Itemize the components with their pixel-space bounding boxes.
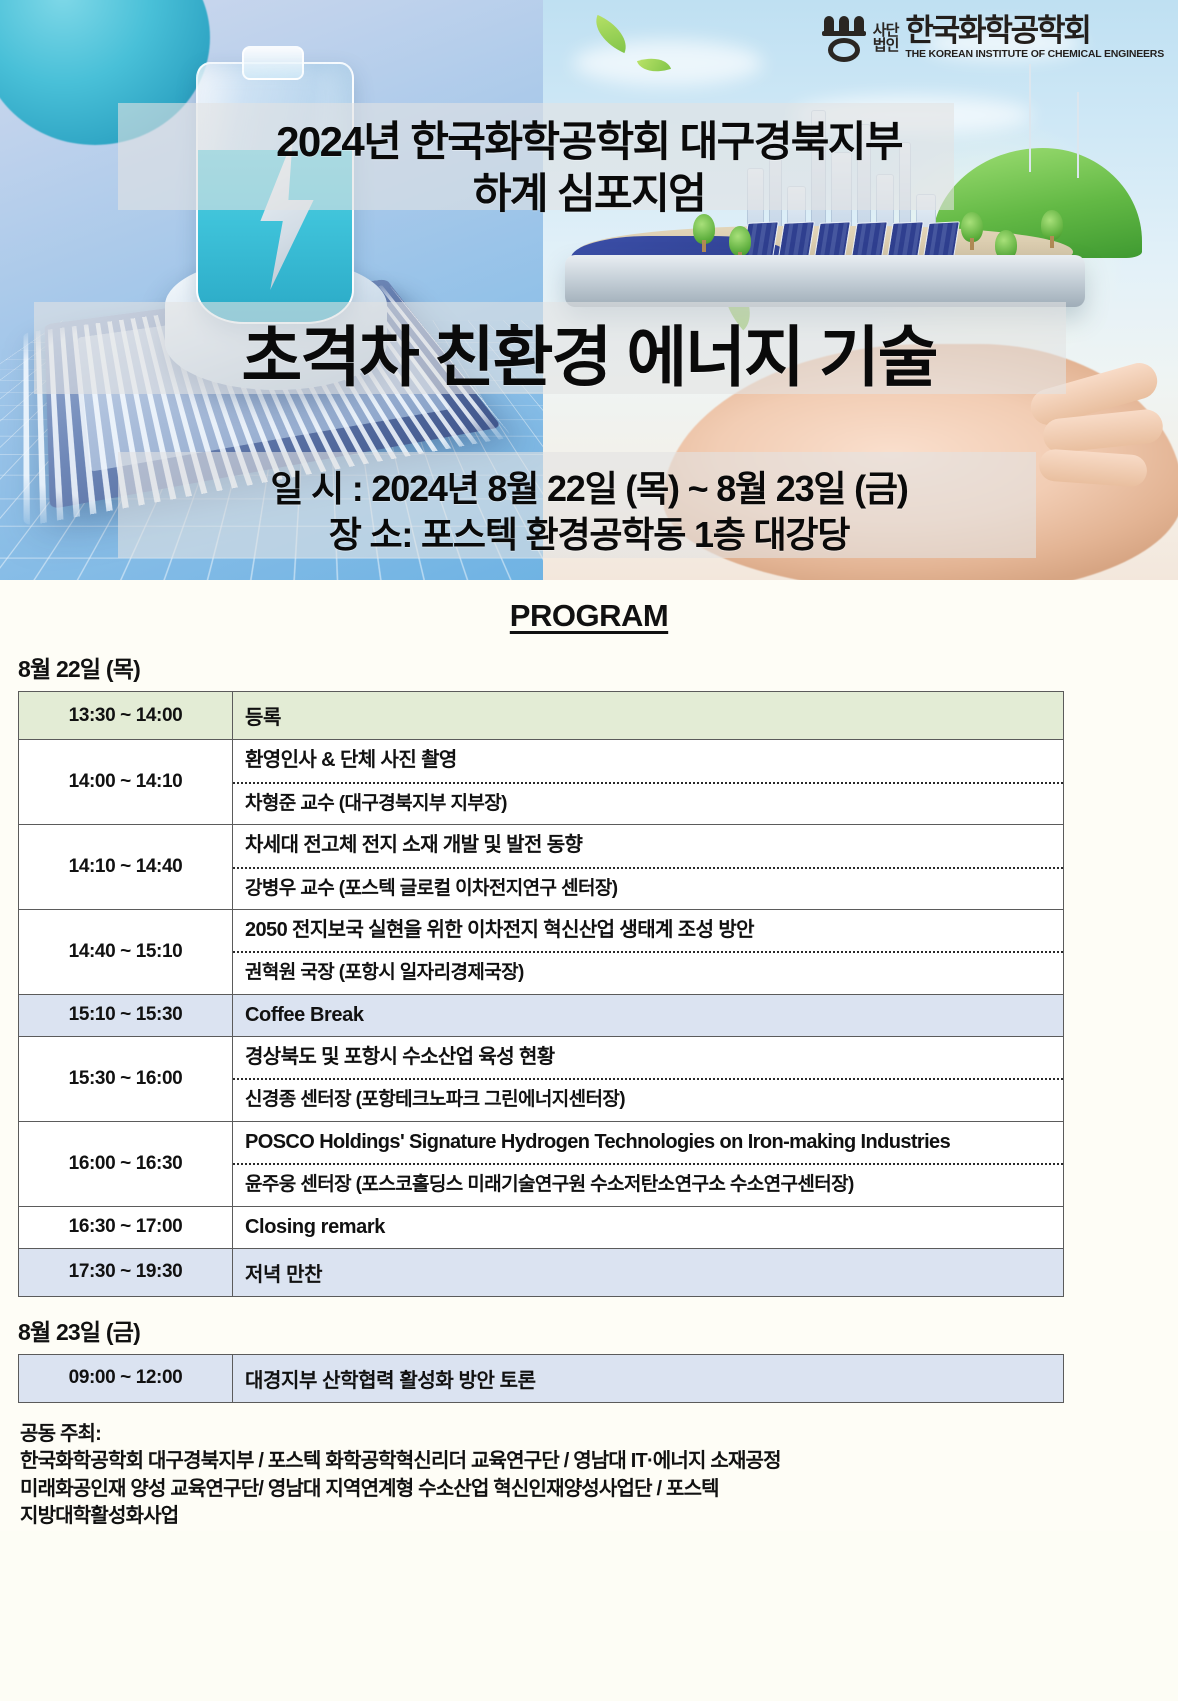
schedule-content-cell: 등록	[233, 692, 1064, 740]
schedule-time-cell: 15:30 ~ 16:00	[19, 1036, 233, 1121]
logo-corporate-type-line1: 사단	[873, 23, 899, 38]
schedule-time-cell: 16:00 ~ 16:30	[19, 1121, 233, 1206]
organizers-line1: 한국화학공학회 대구경북지부 / 포스텍 화학공학혁신리더 교육연구단 / 영남…	[20, 1448, 1164, 1476]
schedule-content-cell: 저녁 만찬	[233, 1248, 1064, 1296]
day1-label: 8월 22일 (목)	[18, 650, 1164, 684]
schedule-row: 16:30 ~ 17:00Closing remark	[19, 1206, 1064, 1248]
schedule-row: 17:30 ~ 19:30저녁 만찬	[19, 1248, 1064, 1296]
kiche-logo: 사단 법인 한국화학공학회 THE KOREAN INSTITUTE OF CH…	[822, 14, 1164, 62]
schedule-topic: 저녁 만찬	[233, 1249, 1063, 1296]
poster-datetime: 일 시 : 2024년 8월 22일 (목) ~ 8월 23일 (금)	[0, 460, 1178, 512]
schedule-row: 13:30 ~ 14:00등록	[19, 692, 1064, 740]
day2-label: 8월 23일 (금)	[18, 1313, 1164, 1347]
poster-venue: 장 소: 포스텍 환경공학동 1층 대강당	[0, 506, 1178, 558]
schedule-row: 14:00 ~ 14:10환영인사 & 단체 사진 촬영차형준 교수 (대구경북…	[19, 740, 1064, 825]
schedule-row: 15:30 ~ 16:00경상북도 및 포항시 수소산업 육성 현황신경종 센터…	[19, 1036, 1064, 1121]
schedule-row: 14:40 ~ 15:102050 전지보국 실현을 위한 이차전지 혁신산업 …	[19, 909, 1064, 994]
program-heading: PROGRAM	[14, 598, 1164, 634]
schedule-speaker: 강병우 교수 (포스텍 글로컬 이차전지연구 센터장)	[233, 867, 1063, 909]
schedule-content-cell: 차세대 전고체 전지 소재 개발 및 발전 동향강병우 교수 (포스텍 글로컬 …	[233, 824, 1064, 909]
logo-wordmark-en: THE KOREAN INSTITUTE OF CHEMICAL ENGINEE…	[905, 48, 1164, 60]
schedule-time-cell: 14:40 ~ 15:10	[19, 909, 233, 994]
schedule-content-cell: 경상북도 및 포항시 수소산업 육성 현황신경종 센터장 (포항테크노파크 그린…	[233, 1036, 1064, 1121]
day2-block: 8월 23일 (금) 09:00 ~ 12:00대경지부 산학협력 활성화 방안…	[14, 1313, 1164, 1403]
organizers-line2: 미래화공인재 양성 교육연구단/ 영남대 지역연계형 수소산업 혁신인재양성사업…	[20, 1476, 1164, 1504]
schedule-time-cell: 14:00 ~ 14:10	[19, 740, 233, 825]
schedule-topic: 등록	[233, 692, 1063, 739]
hero-banner: 사단 법인 한국화학공학회 THE KOREAN INSTITUTE OF CH…	[0, 0, 1178, 580]
schedule-topic: POSCO Holdings' Signature Hydrogen Techn…	[233, 1122, 1063, 1164]
schedule-content-cell: POSCO Holdings' Signature Hydrogen Techn…	[233, 1121, 1064, 1206]
schedule-time-cell: 09:00 ~ 12:00	[19, 1354, 233, 1402]
day2-schedule-table: 09:00 ~ 12:00대경지부 산학협력 활성화 방안 토론	[18, 1354, 1064, 1403]
logo-wordmark: 한국화학공학회 THE KOREAN INSTITUTE OF CHEMICAL…	[905, 16, 1164, 59]
kiche-emblem-icon	[822, 14, 866, 62]
schedule-row: 16:00 ~ 16:30POSCO Holdings' Signature H…	[19, 1121, 1064, 1206]
schedule-content-cell: Closing remark	[233, 1206, 1064, 1248]
schedule-topic: 환영인사 & 단체 사진 촬영	[233, 740, 1063, 782]
schedule-topic: 2050 전지보국 실현을 위한 이차전지 혁신산업 생태계 조성 방안	[233, 910, 1063, 952]
schedule-content-cell: 환영인사 & 단체 사진 촬영차형준 교수 (대구경북지부 지부장)	[233, 740, 1064, 825]
schedule-time-cell: 16:30 ~ 17:00	[19, 1206, 233, 1248]
schedule-topic: 차세대 전고체 전지 소재 개발 및 발전 동향	[233, 825, 1063, 867]
schedule-time-cell: 17:30 ~ 19:30	[19, 1248, 233, 1296]
schedule-row: 09:00 ~ 12:00대경지부 산학협력 활성화 방안 토론	[19, 1354, 1064, 1402]
organizers-line3: 지방대학활성화사업	[20, 1503, 1164, 1531]
program-section: PROGRAM 8월 22일 (목) 13:30 ~ 14:00등록14:00 …	[0, 580, 1178, 1531]
schedule-content-cell: Coffee Break	[233, 994, 1064, 1036]
schedule-row: 14:10 ~ 14:40차세대 전고체 전지 소재 개발 및 발전 동향강병우…	[19, 824, 1064, 909]
organizers-label: 공동 주최:	[20, 1421, 1164, 1449]
schedule-row: 15:10 ~ 15:30Coffee Break	[19, 994, 1064, 1036]
schedule-speaker: 권혁원 국장 (포항시 일자리경제국장)	[233, 951, 1063, 993]
day1-schedule-table: 13:30 ~ 14:00등록14:00 ~ 14:10환영인사 & 단체 사진…	[18, 691, 1064, 1297]
poster-subtitle: 초격차 친환경 에너지 기술	[0, 304, 1178, 400]
logo-corporate-type: 사단 법인	[873, 23, 899, 54]
schedule-speaker: 신경종 센터장 (포항테크노파크 그린에너지센터장)	[233, 1078, 1063, 1120]
schedule-time-cell: 15:10 ~ 15:30	[19, 994, 233, 1036]
floating-plate	[565, 255, 1085, 307]
logo-corporate-type-line2: 법인	[873, 38, 899, 53]
logo-wordmark-ko: 한국화학공학회	[905, 16, 1164, 46]
schedule-topic: 경상북도 및 포항시 수소산업 육성 현황	[233, 1037, 1063, 1079]
schedule-content-cell: 2050 전지보국 실현을 위한 이차전지 혁신산업 생태계 조성 방안권혁원 …	[233, 909, 1064, 994]
schedule-time-cell: 13:30 ~ 14:00	[19, 692, 233, 740]
schedule-speaker: 윤주웅 센터장 (포스코홀딩스 미래기술연구원 수소저탄소연구소 수소연구센터장…	[233, 1163, 1063, 1205]
schedule-speaker: 차형준 교수 (대구경북지부 지부장)	[233, 782, 1063, 824]
schedule-topic: Closing remark	[233, 1207, 1063, 1248]
battery-cap	[242, 46, 304, 80]
schedule-time-cell: 14:10 ~ 14:40	[19, 824, 233, 909]
schedule-topic: Coffee Break	[233, 995, 1063, 1036]
conference-poster: 사단 법인 한국화학공학회 THE KOREAN INSTITUTE OF CH…	[0, 0, 1178, 1701]
tree-icon	[729, 226, 751, 256]
schedule-content-cell: 대경지부 산학협력 활성화 방안 토론	[233, 1354, 1064, 1402]
schedule-topic: 대경지부 산학협력 활성화 방안 토론	[233, 1355, 1063, 1402]
poster-title-line2: 하계 심포지엄	[0, 160, 1178, 221]
organizers-block: 공동 주최: 한국화학공학회 대구경북지부 / 포스텍 화학공학혁신리더 교육연…	[20, 1421, 1164, 1531]
